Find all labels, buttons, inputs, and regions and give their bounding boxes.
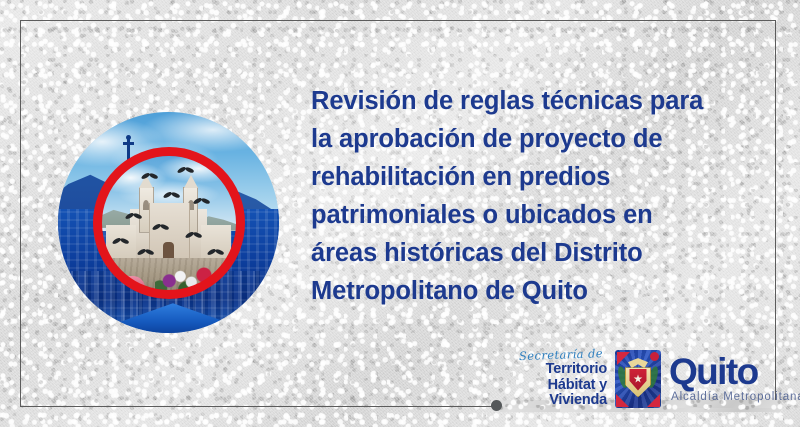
secretaria-script-label: Secretaría de <box>495 348 607 363</box>
slide-canvas: Revisión de reglas técnicas para la apro… <box>0 0 800 427</box>
photo-circle-quito-san-francisco <box>58 112 279 333</box>
title-line-4: patrimoniales o ubicados en <box>311 196 781 234</box>
logo-quito-alcaldia: Quito Alcaldía Metropolitana <box>669 354 800 404</box>
red-highlight-ring <box>93 147 245 299</box>
secretaria-line-vivienda: Vivienda <box>495 393 607 409</box>
quito-subtitle: Alcaldía Metropolitana <box>669 392 800 404</box>
coat-corner-tr <box>650 352 659 361</box>
title-line-6: Metropolitano de Quito <box>311 272 781 310</box>
photo-inner <box>58 112 279 333</box>
secretaria-line-territorio: Territorio <box>495 362 607 378</box>
title-line-5: áreas históricas del Distrito <box>311 234 781 272</box>
photo-roof <box>120 303 226 333</box>
quito-coat-of-arms-icon <box>615 350 661 408</box>
title-line-1: Revisión de reglas técnicas para <box>311 82 781 120</box>
secretaria-line-habitat: Hábitat y <box>495 378 607 394</box>
title-line-2: la aprobación de proyecto de <box>311 120 781 158</box>
logo-secretaria-territorio-habitat-vivienda: Secretaría de Territorio Hábitat y Vivie… <box>495 350 607 409</box>
quito-wordmark: Quito <box>669 354 800 390</box>
slide-title: Revisión de reglas técnicas para la apro… <box>311 82 781 310</box>
logo-bar: Secretaría de Territorio Hábitat y Vivie… <box>495 346 795 412</box>
title-line-3: rehabilitación en predios <box>311 158 781 196</box>
